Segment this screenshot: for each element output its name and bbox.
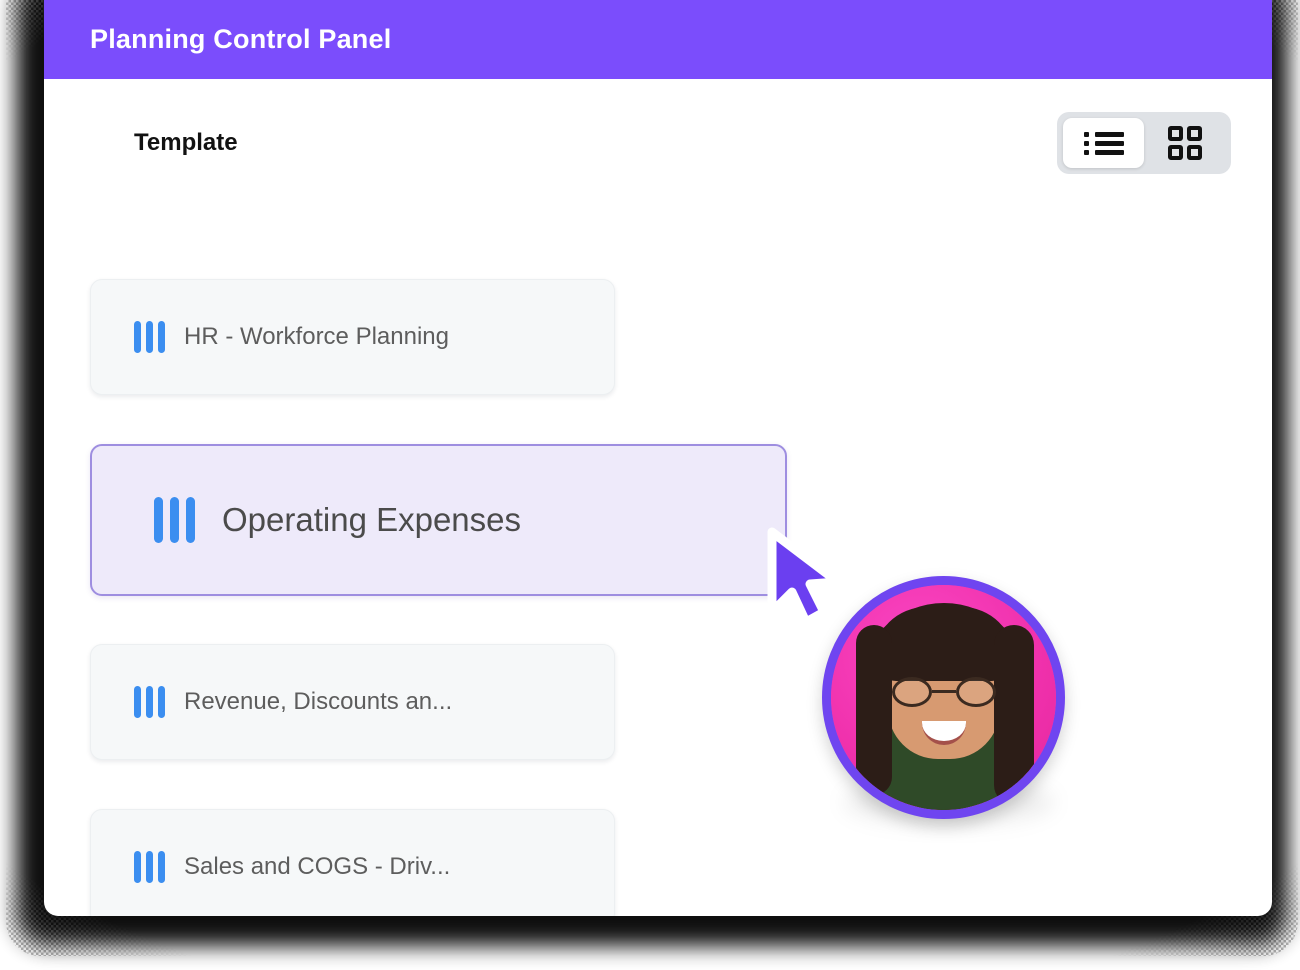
avatar-hair-top xyxy=(874,607,1014,681)
avatar-hair-left xyxy=(856,625,892,795)
view-mode-toggle[interactable] xyxy=(1057,112,1231,174)
avatar-glasses-icon xyxy=(892,677,996,707)
avatar-image xyxy=(831,585,1056,810)
template-card-label: Revenue, Discounts an... xyxy=(184,688,452,716)
user-avatar xyxy=(822,576,1065,819)
template-card-sales-and-cogs[interactable]: Sales and COGS - Driv... xyxy=(90,809,615,916)
bars-icon xyxy=(134,686,165,718)
template-card-operating-expenses[interactable]: Operating Expenses xyxy=(90,444,787,596)
template-card-label: Sales and COGS - Driv... xyxy=(184,853,450,881)
template-card-hr-workforce-planning[interactable]: HR - Workforce Planning xyxy=(90,279,615,395)
planning-control-panel-window: Planning Control Panel Template xyxy=(44,0,1272,916)
template-list: HR - Workforce Planning Operating Expens… xyxy=(90,279,787,916)
grid-icon xyxy=(1168,126,1202,160)
window-content: Template HR - xyxy=(44,79,1272,916)
grid-view-button[interactable] xyxy=(1144,118,1225,168)
list-view-button[interactable] xyxy=(1063,118,1144,168)
window-title: Planning Control Panel xyxy=(90,24,391,55)
list-icon xyxy=(1084,129,1124,157)
bars-icon xyxy=(134,851,165,883)
bars-icon xyxy=(134,321,165,353)
avatar-hair-right xyxy=(994,625,1034,805)
section-title-template: Template xyxy=(134,129,238,157)
bars-icon xyxy=(154,497,195,543)
template-card-revenue-discounts[interactable]: Revenue, Discounts an... xyxy=(90,644,615,760)
template-card-label: Operating Expenses xyxy=(222,501,521,539)
template-card-label: HR - Workforce Planning xyxy=(184,323,449,351)
screenshot-stage: Planning Control Panel Template xyxy=(0,0,1300,970)
window-titlebar: Planning Control Panel xyxy=(44,0,1272,79)
